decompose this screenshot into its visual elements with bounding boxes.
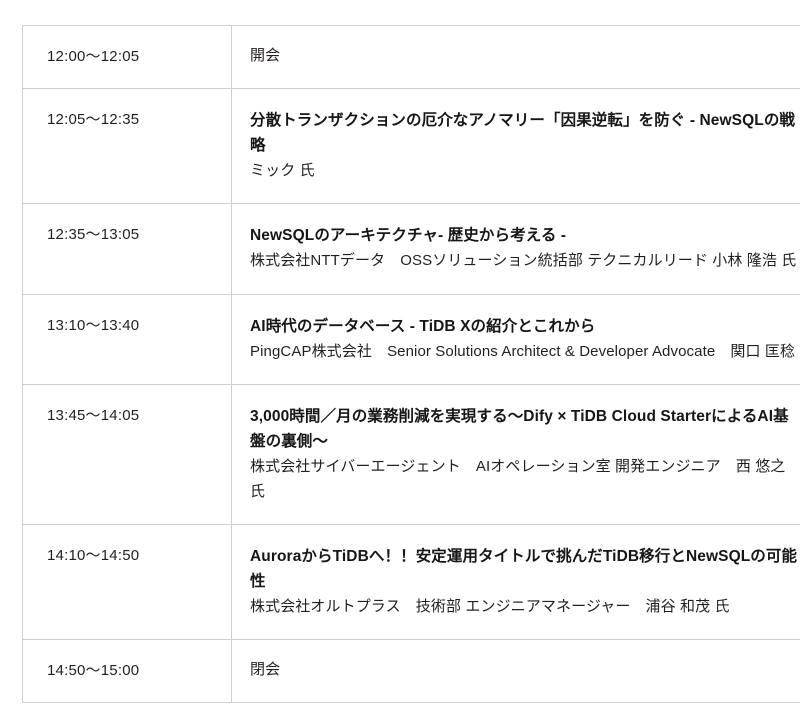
session-time-cell: 12:35〜13:05 [23, 204, 232, 294]
table-row: 13:10〜13:40AI時代のデータベース - TiDB Xの紹介とこれからP… [23, 294, 800, 384]
schedule-table-body: 12:00〜12:05開会12:05〜12:35分散トランザクションの厄介なアノ… [23, 26, 800, 703]
session-time-cell: 13:45〜14:05 [23, 385, 232, 525]
session-time-cell: 13:10〜13:40 [23, 294, 232, 384]
session-title: 閉会 [250, 659, 800, 682]
session-time-cell: 14:50〜15:00 [23, 640, 232, 703]
session-time-cell: 12:00〜12:05 [23, 26, 232, 89]
table-row: 12:35〜13:05NewSQLのアーキテクチャ- 歴史から考える -株式会社… [23, 204, 800, 294]
table-row: 14:50〜15:00閉会 [23, 640, 800, 703]
session-detail-cell: 3,000時間／月の業務削減を実現する〜Dify × TiDB Cloud St… [232, 385, 800, 525]
event-schedule-table: 12:00〜12:05開会12:05〜12:35分散トランザクションの厄介なアノ… [22, 25, 800, 703]
session-detail-cell: 分散トランザクションの厄介なアノマリー「因果逆転」を防ぐ - NewSQLの戦略… [232, 88, 800, 204]
session-title: AI時代のデータベース - TiDB Xの紹介とこれから [250, 314, 800, 339]
session-detail-cell: 閉会 [232, 640, 800, 703]
session-speaker: PingCAP株式会社 Senior Solutions Architect &… [250, 340, 800, 364]
session-title: NewSQLのアーキテクチャ- 歴史から考える - [250, 223, 800, 248]
session-title: 分散トランザクションの厄介なアノマリー「因果逆転」を防ぐ - NewSQLの戦略 [250, 108, 800, 158]
session-title: AuroraからTiDBへ！！安定運用タイトルで挑んだTiDB移行とNewSQL… [250, 544, 800, 594]
session-detail-cell: NewSQLのアーキテクチャ- 歴史から考える -株式会社NTTデータ OSSソ… [232, 204, 800, 294]
session-time-cell: 12:05〜12:35 [23, 88, 232, 204]
session-speaker: ミック 氏 [250, 159, 800, 183]
session-speaker: 株式会社サイバーエージェント AIオペレーション室 開発エンジニア 西 悠之 氏 [250, 455, 800, 504]
session-detail-cell: AuroraからTiDBへ！！安定運用タイトルで挑んだTiDB移行とNewSQL… [232, 524, 800, 640]
session-detail-cell: 開会 [232, 26, 800, 89]
table-row: 12:00〜12:05開会 [23, 26, 800, 89]
session-detail-cell: AI時代のデータベース - TiDB Xの紹介とこれからPingCAP株式会社 … [232, 294, 800, 384]
session-speaker: 株式会社NTTデータ OSSソリューション統括部 テクニカルリード 小林 隆浩 … [250, 249, 800, 273]
table-row: 14:10〜14:50AuroraからTiDBへ！！安定運用タイトルで挑んだTi… [23, 524, 800, 640]
schedule-page: 12:00〜12:05開会12:05〜12:35分散トランザクションの厄介なアノ… [0, 0, 800, 714]
table-row: 12:05〜12:35分散トランザクションの厄介なアノマリー「因果逆転」を防ぐ … [23, 88, 800, 204]
table-row: 13:45〜14:053,000時間／月の業務削減を実現する〜Dify × Ti… [23, 385, 800, 525]
session-time-cell: 14:10〜14:50 [23, 524, 232, 640]
session-title: 3,000時間／月の業務削減を実現する〜Dify × TiDB Cloud St… [250, 404, 800, 454]
session-title: 開会 [250, 45, 800, 68]
session-speaker: 株式会社オルトプラス 技術部 エンジニアマネージャー 浦谷 和茂 氏 [250, 595, 800, 619]
